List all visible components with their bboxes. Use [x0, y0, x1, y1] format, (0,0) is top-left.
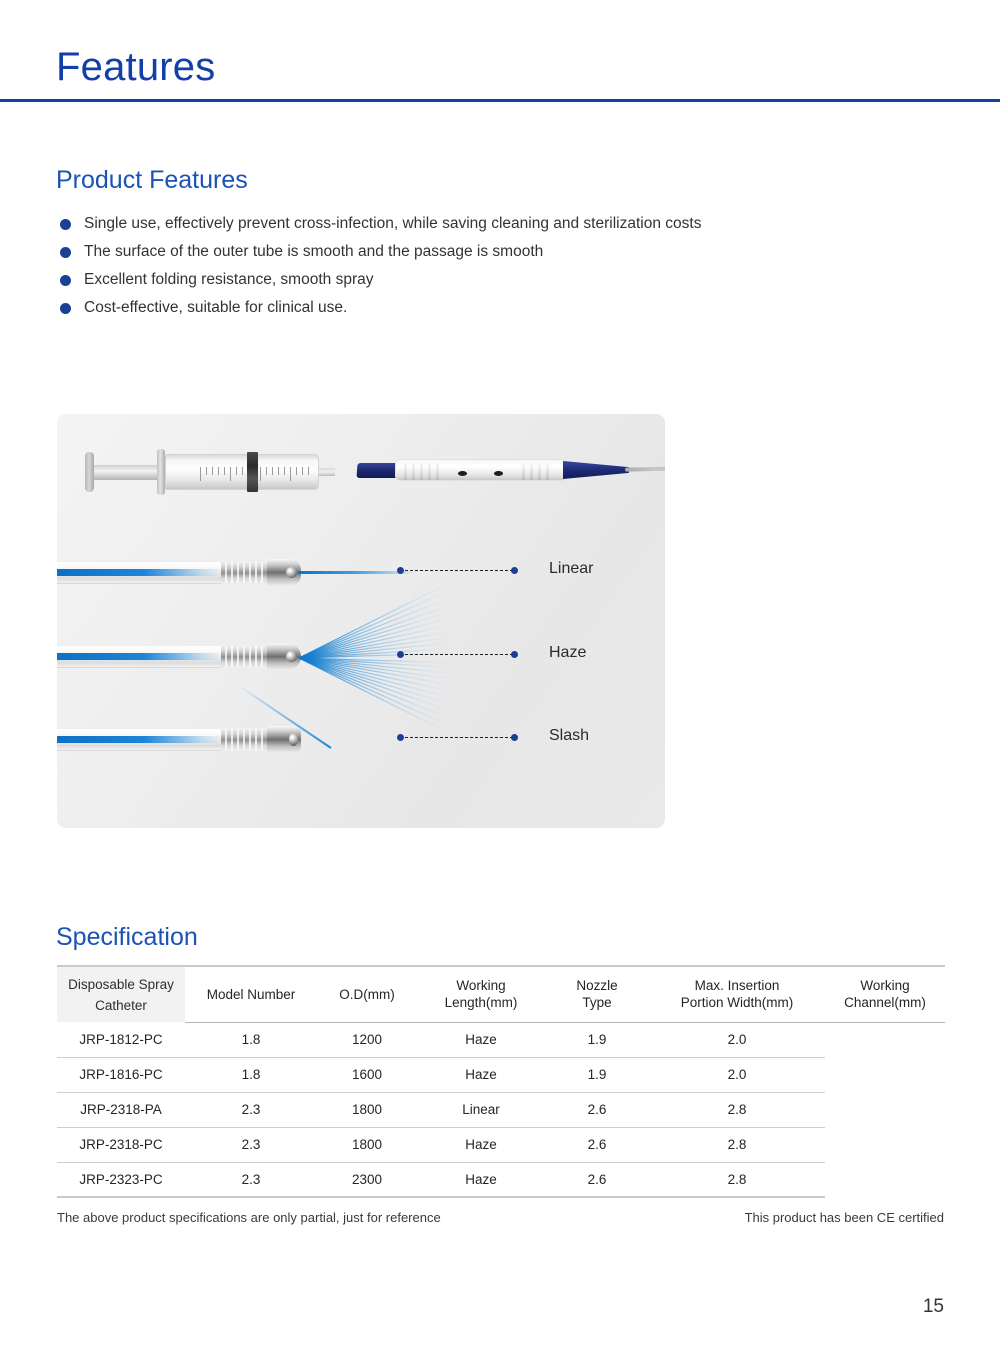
list-item-text: Single use, effectively prevent cross-in… — [84, 215, 701, 232]
catheter-blue-stripe — [57, 569, 223, 576]
bullet-icon — [60, 275, 71, 286]
bullet-icon — [60, 303, 71, 314]
syringe-barrel — [165, 454, 319, 490]
legend-dashed-line — [405, 654, 513, 655]
cell-od: 1.8 — [185, 1057, 317, 1092]
table-category-cell: Disposable Spray Catheter — [57, 966, 185, 1022]
list-item: Single use, effectively prevent cross-in… — [56, 210, 706, 237]
legend-label-linear: Linear — [549, 560, 593, 578]
column-header-od: O.D(mm) — [317, 966, 417, 1022]
syringe-illustration — [85, 446, 335, 498]
cell-model: JRP-2323-PC — [57, 1162, 185, 1197]
table-body: JRP-1812-PC 1.8 1200 Haze 1.9 2.0 JRP-18… — [57, 1022, 945, 1197]
cell-channel: 2.8 — [649, 1162, 825, 1197]
product-features-list: Single use, effectively prevent cross-in… — [56, 210, 706, 322]
handle-luer-connector — [356, 463, 399, 478]
list-item: Excellent folding resistance, smooth spr… — [56, 266, 706, 293]
cell-width: 2.6 — [545, 1127, 649, 1162]
cell-width: 2.6 — [545, 1092, 649, 1127]
cell-nozzle: Haze — [417, 1057, 545, 1092]
cell-channel: 2.0 — [649, 1057, 825, 1092]
product-features-heading: Product Features — [56, 165, 248, 195]
list-item-text: Cost-effective, suitable for clinical us… — [84, 299, 347, 316]
cell-channel: 2.8 — [649, 1127, 825, 1162]
cell-nozzle: Haze — [417, 1022, 545, 1057]
catheter-blue-stripe — [57, 736, 223, 743]
product-image-panel: Linear Haze Slash — [57, 414, 665, 828]
legend-dashed-line — [405, 737, 513, 738]
cell-nozzle: Haze — [417, 1162, 545, 1197]
table-row: JRP-1812-PC 1.8 1200 Haze 1.9 2.0 — [57, 1022, 945, 1057]
syringe-thumb-flange — [85, 452, 94, 492]
syringe-finger-flange — [157, 449, 165, 495]
catheter-handle-illustration — [357, 452, 647, 492]
list-item: Cost-effective, suitable for clinical us… — [56, 294, 706, 321]
table-row: JRP-2318-PA 2.3 1800 Linear 2.6 2.8 — [57, 1092, 945, 1127]
syringe-plunger-seal — [247, 452, 258, 492]
nozzle-orifice — [289, 733, 298, 746]
footnote-disclaimer: The above product specifications are onl… — [57, 1210, 441, 1225]
cell-model: JRP-2318-PA — [57, 1092, 185, 1127]
list-item-text: The surface of the outer tube is smooth … — [84, 243, 543, 260]
catheter-coil-section — [221, 561, 269, 584]
handle-marker-dot — [458, 471, 467, 476]
page: Features Product Features Single use, ef… — [0, 0, 1000, 1357]
cell-od: 2.3 — [185, 1162, 317, 1197]
header-divider — [0, 98, 1000, 102]
page-number: 15 — [923, 1296, 944, 1318]
cell-length: 1800 — [317, 1092, 417, 1127]
column-header-working-length: Working Length(mm) — [417, 966, 545, 1022]
page-title: Features — [56, 44, 215, 90]
handle-marker-dot — [494, 471, 503, 476]
cell-model: JRP-1812-PC — [57, 1022, 185, 1057]
legend-label-haze: Haze — [549, 644, 586, 662]
handle-catheter-tube — [625, 466, 665, 471]
bullet-icon — [60, 219, 71, 230]
page-header: Features — [0, 0, 1000, 108]
handle-strain-relief — [563, 461, 629, 479]
cell-length: 1200 — [317, 1022, 417, 1057]
list-item: The surface of the outer tube is smooth … — [56, 238, 706, 265]
table-row: JRP-2323-PC 2.3 2300 Haze 2.6 2.8 — [57, 1162, 945, 1197]
cell-model: JRP-1816-PC — [57, 1057, 185, 1092]
legend-dot-icon — [397, 734, 404, 741]
column-header-max-insertion-width: Max. Insertion Portion Width(mm) — [649, 966, 825, 1022]
cell-width: 1.9 — [545, 1022, 649, 1057]
cell-length: 1600 — [317, 1057, 417, 1092]
catheter-coil-section — [221, 645, 269, 668]
column-header-nozzle-type: Nozzle Type — [545, 966, 649, 1022]
table-header: Disposable Spray Catheter Model Number O… — [57, 966, 945, 1022]
catheter-blue-stripe — [57, 653, 223, 660]
cell-od: 2.3 — [185, 1127, 317, 1162]
cell-channel: 2.8 — [649, 1092, 825, 1127]
cell-channel: 2.0 — [649, 1022, 825, 1057]
cell-nozzle: Linear — [417, 1092, 545, 1127]
specification-table: Disposable Spray Catheter Model Number O… — [57, 965, 945, 1198]
cell-length: 2300 — [317, 1162, 417, 1197]
cell-nozzle: Haze — [417, 1127, 545, 1162]
legend-dot-icon — [511, 567, 518, 574]
list-item-text: Excellent folding resistance, smooth spr… — [84, 271, 373, 288]
cell-od: 1.8 — [185, 1022, 317, 1057]
table-row: JRP-1816-PC 1.8 1600 Haze 1.9 2.0 — [57, 1057, 945, 1092]
catheter-coil-section — [221, 728, 269, 751]
legend-dot-icon — [397, 567, 404, 574]
legend-label-slash: Slash — [549, 727, 589, 745]
bullet-icon — [60, 247, 71, 258]
cell-model: JRP-2318-PC — [57, 1127, 185, 1162]
specification-heading: Specification — [56, 922, 198, 952]
legend-dot-icon — [511, 734, 518, 741]
syringe-plunger-rod — [94, 465, 159, 480]
legend-dashed-line — [405, 570, 513, 571]
legend-dot-icon — [397, 651, 404, 658]
table-row: JRP-2318-PC 2.3 1800 Haze 2.6 2.8 — [57, 1127, 945, 1162]
spray-pattern-haze — [291, 576, 461, 740]
legend-dot-icon — [511, 651, 518, 658]
cell-od: 2.3 — [185, 1092, 317, 1127]
cell-width: 2.6 — [545, 1162, 649, 1197]
cell-length: 1800 — [317, 1127, 417, 1162]
cell-width: 1.9 — [545, 1057, 649, 1092]
handle-body — [395, 459, 567, 481]
footnote-certification: This product has been CE certified — [745, 1210, 944, 1225]
table-header-row: Disposable Spray Catheter Model Number O… — [57, 966, 945, 1022]
column-header-working-channel: Working Channel(mm) — [825, 966, 945, 1022]
syringe-luer-tip — [319, 468, 335, 476]
nozzle-tip-slash — [267, 726, 301, 753]
column-header-model-number: Model Number — [185, 966, 317, 1022]
